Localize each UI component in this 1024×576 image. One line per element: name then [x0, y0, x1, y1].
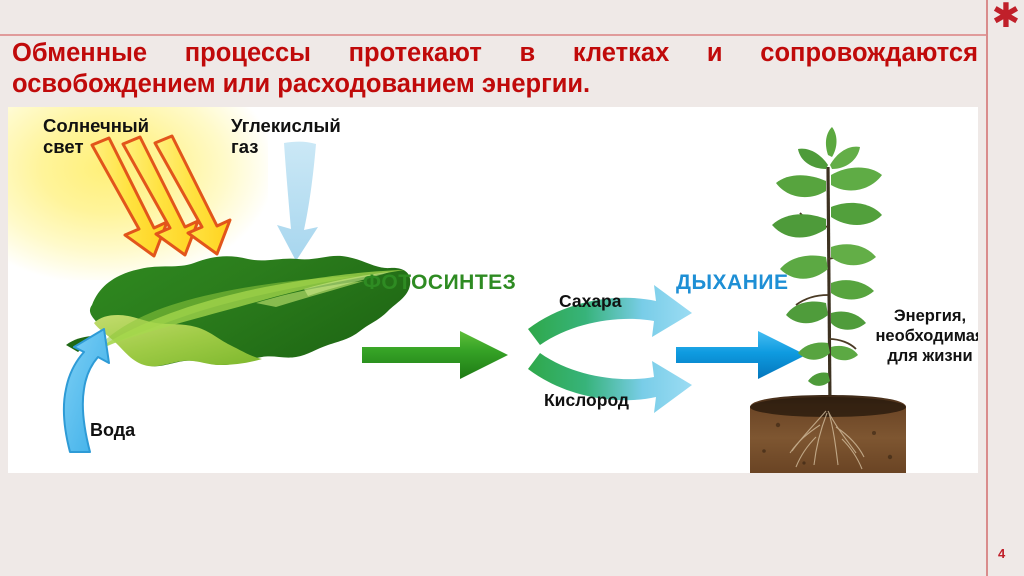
asterisk-icon: ✱	[989, 0, 1023, 36]
frame-vertical-line	[986, 0, 988, 576]
page-title: Обменные процессы протекают в клетках и …	[12, 38, 978, 100]
co2-label: Углекислый газ	[231, 115, 341, 157]
page-title-line-1: Обменные процессы протекают в клетках и …	[12, 38, 978, 69]
leaf-icon	[66, 256, 410, 366]
respiration-label: ДЫХАНИЕ	[676, 271, 788, 295]
sunlight-label-line-1: Солнечный	[43, 115, 149, 136]
water-label: Вода	[90, 420, 135, 441]
page-number: 4	[998, 546, 1005, 561]
energy-label: Энергия, необходимая для жизни	[870, 306, 978, 366]
sugars-label: Сахара	[559, 291, 621, 312]
photosynthesis-label: ФОТОСИНТЕЗ	[363, 271, 516, 295]
sunlight-label-line-2: свет	[43, 136, 149, 157]
sunlight-label: Солнечный свет	[43, 115, 149, 157]
co2-arrow-icon	[277, 142, 318, 261]
seedling-icon	[772, 127, 882, 407]
co2-label-line-2: газ	[231, 136, 341, 157]
soil-icon	[750, 395, 906, 473]
respiration-arrow-icon	[676, 331, 806, 379]
co2-label-line-1: Углекислый	[231, 115, 341, 136]
photosynthesis-arrow-icon	[362, 331, 508, 379]
frame-horizontal-line	[0, 34, 986, 36]
energy-label-line-1: Энергия,	[870, 306, 978, 326]
energy-label-line-3: для жизни	[870, 346, 978, 366]
photosynthesis-respiration-diagram: Солнечный свет Углекислый газ Вода ФОТОС…	[8, 107, 978, 473]
energy-label-line-2: необходимая	[870, 326, 978, 346]
oxygen-label: Кислород	[544, 390, 629, 411]
page-title-line-2: освобождением или расходованием энергии.	[12, 69, 978, 100]
slide-root: ✱ Обменные процессы протекают в клетках …	[0, 0, 1024, 576]
